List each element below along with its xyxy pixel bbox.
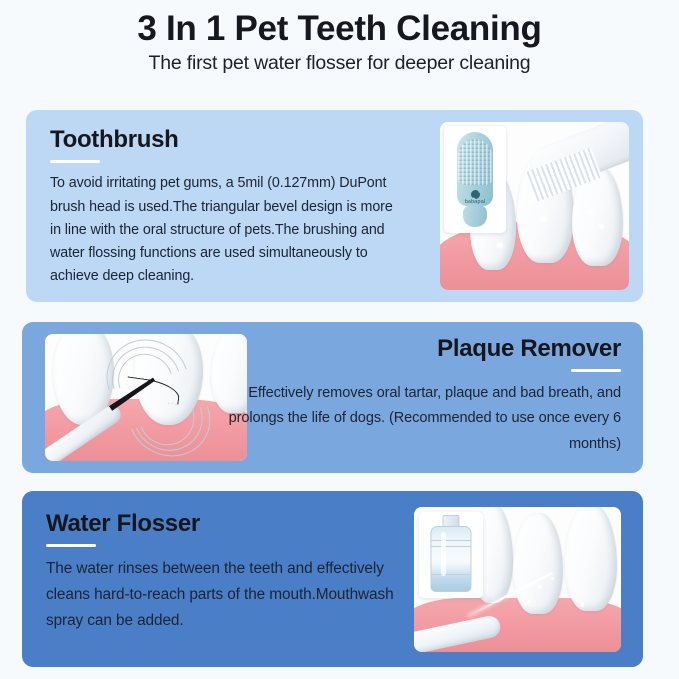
brush-head-tip [463, 205, 487, 227]
tooth [513, 513, 563, 615]
plaque-remover-text-block: Plaque Remover Effectively removes oral … [219, 336, 621, 457]
page-header: 3 In 1 Pet Teeth Cleaning The first pet … [0, 0, 679, 76]
bottle-band [431, 574, 472, 575]
bottle-body [431, 526, 472, 592]
water-flosser-heading: Water Flosser [46, 511, 406, 537]
tooth [565, 507, 617, 611]
toothbrush-accent-rule [50, 160, 100, 163]
brand-name: babapal [465, 199, 486, 205]
toothbrush-text-block: Toothbrush To avoid irritating pet gums,… [50, 127, 400, 288]
bottle-band [431, 540, 472, 541]
water-droplet [563, 594, 568, 598]
bottle-highlight [441, 532, 446, 576]
water-flosser-accent-rule [46, 544, 96, 547]
plaque-remover-scene [45, 334, 247, 461]
bottle-band [431, 546, 472, 547]
brand-logo: babapal [460, 190, 490, 205]
foam-sparkle [497, 243, 503, 248]
plaque-remover-accent-rule [571, 369, 621, 372]
brush-head-bristles [458, 139, 492, 185]
toothbrush-image: babapal [440, 122, 629, 290]
water-flosser-image [414, 507, 621, 652]
page-subtitle: The first pet water flosser for deeper c… [0, 52, 679, 75]
feature-card-water-flosser: Water Flosser The water rinses between t… [22, 491, 643, 667]
page-title: 3 In 1 Pet Teeth Cleaning [0, 9, 679, 48]
water-flosser-text-block: Water Flosser The water rinses between t… [46, 511, 406, 633]
feature-card-plaque-remover: Plaque Remover Effectively removes oral … [22, 322, 643, 473]
plaque-remover-heading: Plaque Remover [219, 336, 621, 362]
water-droplet [528, 600, 531, 603]
plaque-remover-body: Effectively removes oral tartar, plaque … [219, 381, 621, 456]
mouthwash-bottle-inset [419, 512, 483, 598]
infographic-page: 3 In 1 Pet Teeth Cleaning The first pet … [0, 0, 679, 679]
water-flosser-body: The water rinses between the teeth and e… [46, 556, 406, 633]
plaque-remover-image [45, 334, 247, 461]
water-droplet [580, 603, 584, 607]
feature-card-toothbrush: Toothbrush To avoid irritating pet gums,… [26, 110, 643, 302]
toothbrush-heading: Toothbrush [50, 127, 400, 153]
finger-brush-inset: babapal [444, 126, 506, 233]
water-droplet [551, 577, 554, 580]
toothbrush-body: To avoid irritating pet gums, a 5mil (0.… [50, 172, 400, 288]
paw-icon [471, 190, 480, 199]
